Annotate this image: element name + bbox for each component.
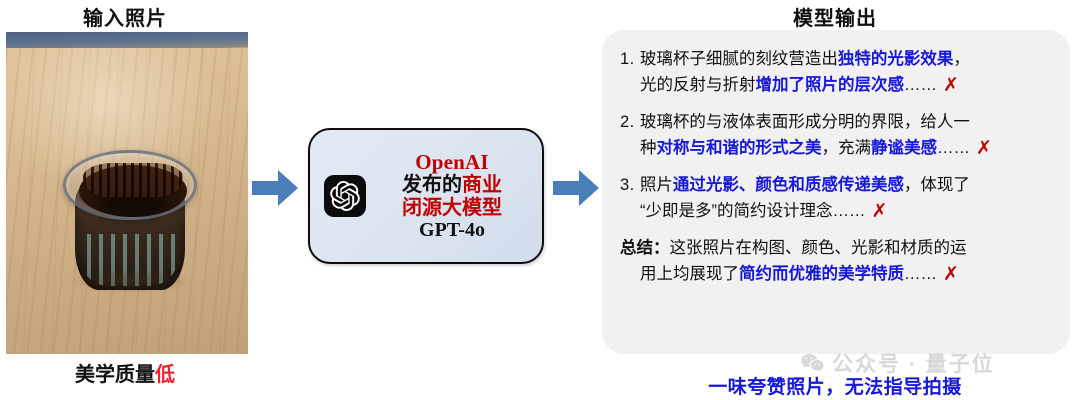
output-item-number: 3. bbox=[620, 176, 640, 194]
body-text: ，体现了 bbox=[904, 176, 970, 194]
model-desc-line-1: 发布的商业 bbox=[368, 174, 536, 196]
openai-logo-icon bbox=[324, 175, 366, 217]
summary-line-2-text: 用上均展现了简约而优雅的美学特质…… bbox=[640, 265, 937, 283]
output-item-cross-icon: ✗ bbox=[976, 138, 992, 159]
model-output-title: 模型输出 bbox=[600, 2, 1070, 31]
cup-rim bbox=[63, 150, 197, 220]
body-text: “少即是多”的简约设计理念…… bbox=[640, 202, 866, 220]
highlight-text: 独特的光影效果 bbox=[838, 50, 954, 68]
output-item: 2. 玻璃杯的与液体表面形成分明的界限，给人一种对称与和谐的形式之美，充满静谧美… bbox=[620, 109, 1054, 162]
output-item-line-2: 光的反射与折射增加了照片的层次感……✗ bbox=[620, 72, 1054, 99]
aesthetic-quality-value: 低 bbox=[155, 364, 175, 386]
input-photo-title: 输入照片 bbox=[0, 2, 250, 31]
model-desc-line-2: 闭源大模型 bbox=[368, 197, 536, 219]
input-photo bbox=[6, 32, 248, 354]
body-text: 光的反射与折射 bbox=[640, 76, 756, 94]
output-item-number: 2. bbox=[620, 113, 640, 131]
output-item-cross-icon: ✗ bbox=[943, 75, 959, 96]
model-desc-red-1: 商业 bbox=[462, 174, 502, 196]
photo-glass-cup bbox=[63, 150, 197, 292]
body-text: 照片 bbox=[640, 176, 673, 194]
body-text: 玻璃杯的与液体表面形成分明的界限，给人一 bbox=[640, 113, 970, 131]
slide-root: 输入照片 美学质量低 OpenAI bbox=[0, 0, 1080, 400]
model-name: GPT-4o bbox=[419, 219, 485, 241]
cup-shadow bbox=[69, 268, 193, 294]
body-text: 玻璃杯子细腻的刻纹营造出 bbox=[640, 50, 838, 68]
output-item: 1. 玻璃杯子细腻的刻纹营造出独特的光影效果，光的反射与折射增加了照片的层次感…… bbox=[620, 46, 1054, 99]
summary-line-1-text: 这张照片在构图、颜色、光影和材质的运 bbox=[670, 239, 967, 257]
conclusion-note: 一味夸赞照片，无法指导拍摄 bbox=[600, 372, 1070, 399]
model-desc-red-2: 闭源大模型 bbox=[402, 197, 502, 219]
body-text: 种 bbox=[640, 139, 657, 157]
arrow-right-icon bbox=[553, 168, 599, 208]
body-text: 用上均展现了 bbox=[640, 265, 739, 283]
output-item-line-1: 3. 照片通过光影、颜色和质感传递美感，体现了 bbox=[620, 172, 1054, 198]
output-item: 3. 照片通过光影、颜色和质感传递美感，体现了“少即是多”的简约设计理念……✗ bbox=[620, 172, 1054, 225]
arrow-right-icon bbox=[252, 168, 298, 208]
body-text: 这张照片在构图、颜色、光影和材质的运 bbox=[670, 239, 967, 257]
highlight-text: 通过光影、颜色和质感传递美感 bbox=[673, 176, 904, 194]
highlight-text: 静谧美感 bbox=[871, 139, 937, 157]
model-card-text: OpenAI 发布的商业 闭源大模型 GPT-4o bbox=[366, 151, 542, 242]
model-brand-line: OpenAI bbox=[368, 151, 536, 175]
highlight-text: 增加了照片的层次感 bbox=[756, 76, 905, 94]
output-item-line-1: 1. 玻璃杯子细腻的刻纹营造出独特的光影效果， bbox=[620, 46, 1054, 72]
aesthetic-quality-caption: 美学质量低 bbox=[0, 358, 250, 387]
model-output-panel: 1. 玻璃杯子细腻的刻纹营造出独特的光影效果，光的反射与折射增加了照片的层次感…… bbox=[602, 30, 1070, 354]
body-text: …… bbox=[904, 265, 937, 283]
summary-line-2: 用上均展现了简约而优雅的美学特质……✗ bbox=[620, 261, 1054, 288]
body-text: …… bbox=[937, 139, 970, 157]
output-items-list: 1. 玻璃杯子细腻的刻纹营造出独特的光影效果，光的反射与折射增加了照片的层次感…… bbox=[620, 46, 1054, 225]
highlight-text: 简约而优雅的美学特质 bbox=[739, 265, 904, 283]
summary-label: 总结： bbox=[620, 239, 670, 257]
summary-line-1: 总结：这张照片在构图、颜色、光影和材质的运 bbox=[620, 235, 1054, 261]
model-name-line: GPT-4o bbox=[368, 219, 536, 241]
output-item-line-2: 种对称与和谐的形式之美，充满静谧美感……✗ bbox=[620, 135, 1054, 162]
model-brand: OpenAI bbox=[415, 150, 489, 174]
body-text: …… bbox=[904, 76, 937, 94]
body-text: ， bbox=[953, 50, 970, 68]
aesthetic-quality-label: 美学质量 bbox=[75, 364, 155, 386]
output-item-line-1: 2. 玻璃杯的与液体表面形成分明的界限，给人一 bbox=[620, 109, 1054, 135]
output-item-line-2: “少即是多”的简约设计理念……✗ bbox=[620, 198, 1054, 225]
model-desc-black: 发布的 bbox=[402, 174, 462, 196]
model-card: OpenAI 发布的商业 闭源大模型 GPT-4o bbox=[308, 128, 544, 264]
cup-liquid-reflection bbox=[83, 163, 183, 197]
summary-cross-icon: ✗ bbox=[943, 264, 959, 285]
body-text: ，充满 bbox=[822, 139, 872, 157]
highlight-text: 对称与和谐的形式之美 bbox=[657, 139, 822, 157]
output-item-number: 1. bbox=[620, 50, 640, 68]
output-item-cross-icon: ✗ bbox=[872, 201, 888, 222]
output-summary: 总结：这张照片在构图、颜色、光影和材质的运 用上均展现了简约而优雅的美学特质……… bbox=[620, 235, 1054, 288]
